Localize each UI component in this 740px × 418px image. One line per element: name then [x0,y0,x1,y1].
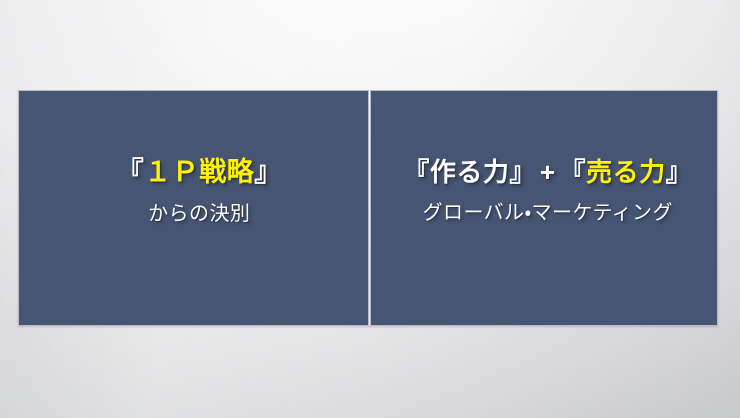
panel-right-subline: グローバル・マーケティング [381,201,716,225]
slide-canvas: 『１Ｐ戦略』 からの決別 『作る力』+『売る力』 グローバル・マーケティング [0,0,740,418]
headline-plus-operator: + [536,157,560,187]
headline-second-close-bracket: 』 [666,157,693,187]
headline-second-accent-text: 売る力 [586,157,666,187]
panel-right-headline: 『作る力』+『売る力』 [381,157,716,188]
panel-left-content: 『１Ｐ戦略』 からの決別 [25,157,369,226]
headline-accent-text: １Ｐ戦略 [144,157,254,187]
panel-right-content: 『作る力』+『売る力』 グローバル・マーケティング [375,157,719,225]
headline-open-bracket: 『 [117,157,145,187]
headline-second-open-bracket: 『 [560,157,587,187]
panel-right[interactable]: 『作る力』+『売る力』 グローバル・マーケティング [370,90,719,326]
headline-first-close-bracket: 』 [509,157,536,187]
headline-first-open-bracket: 『 [403,157,430,187]
panel-left-headline: 『１Ｐ戦略』 [31,157,368,189]
headline-first-text: 作る力 [430,157,510,187]
headline-close-bracket: 』 [254,157,282,187]
panel-left-subline: からの決別 [31,202,368,226]
two-panel-block: 『１Ｐ戦略』 からの決別 『作る力』+『売る力』 グローバル・マーケティング [18,90,718,326]
panel-left[interactable]: 『１Ｐ戦略』 からの決別 [18,90,369,326]
